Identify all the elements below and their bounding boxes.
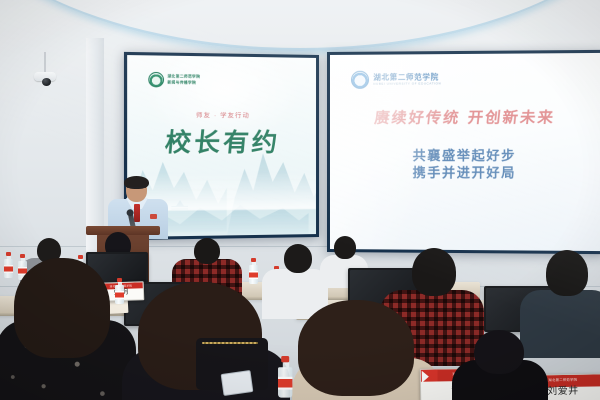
university-seal-icon: [149, 72, 165, 88]
right-projection-screen: 湖北第二师范学院 HUBEI UNIVERSITY OF EDUCATION 赓…: [327, 50, 600, 254]
left-logo-line-2: 新闻与传播学院: [167, 80, 200, 85]
presenter-tie: [134, 204, 140, 222]
camera-mount-stem: [44, 52, 46, 74]
right-logo-cn: 湖北第二师范学院: [373, 72, 441, 81]
audience-front-dark: [452, 330, 548, 400]
right-slide: 湖北第二师范学院 HUBEI UNIVERSITY OF EDUCATION 赓…: [330, 53, 600, 251]
left-logo-line-1: 湖北第二师范学院: [167, 75, 200, 80]
left-slide-logo: 湖北第二师范学院 新闻与传播学院: [149, 72, 201, 88]
person-hair: [298, 300, 414, 396]
right-slide-line-1: 共襄盛举起好步: [330, 148, 600, 165]
person-head: [546, 250, 588, 296]
person-head: [284, 244, 312, 273]
right-slide-headline: 赓续好传统 开创新未来: [330, 108, 600, 127]
person-head: [474, 330, 524, 374]
person-head: [194, 238, 220, 264]
presenter-glasses-icon: [127, 187, 146, 192]
right-slide-logo: 湖北第二师范学院 HUBEI UNIVERSITY OF EDUCATION: [351, 70, 441, 89]
hubei-university-mark-icon: [351, 70, 369, 88]
right-slide-body: 共襄盛举起好步 携手并进开好局: [330, 148, 600, 183]
smartphone: [221, 370, 254, 396]
right-logo-en: HUBEI UNIVERSITY OF EDUCATION: [373, 81, 441, 85]
lecture-hall-photo: 湖北第二师范学院 新闻与传播学院 师友 · 学友行动 校长有约 湖北第二师范学院…: [0, 0, 600, 400]
person-head: [334, 236, 356, 259]
person-head: [412, 248, 456, 296]
left-slide-subtitle: 师友 · 学友行动: [127, 110, 316, 120]
bottle-label: [278, 377, 292, 390]
audience-front-floral: [0, 258, 136, 400]
person-hair: [14, 258, 110, 358]
bottle-label: [249, 271, 258, 279]
left-slide-title: 校长有约: [127, 128, 316, 159]
handbag-chain: [202, 342, 258, 344]
right-slide-line-2: 携手并进开好局: [330, 165, 600, 183]
camera-lens-icon: [42, 78, 51, 86]
wall-column: [86, 38, 104, 258]
water-bottle: [249, 258, 258, 284]
water-bottle: [278, 356, 292, 398]
presenter-badge: [150, 214, 157, 219]
